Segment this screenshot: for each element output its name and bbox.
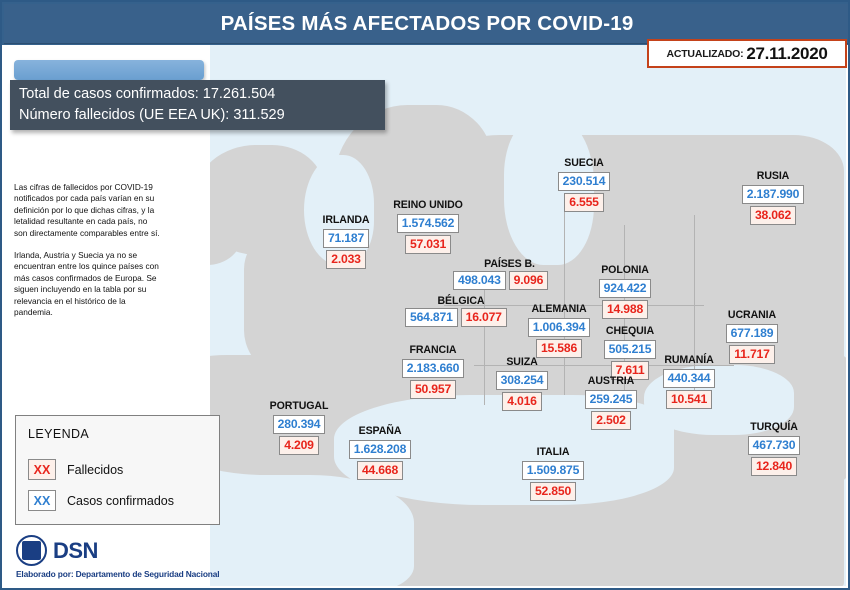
country-label-rusia: RUSIA2.187.99038.062: [730, 170, 816, 225]
updated-date-label: ACTUALIZADO:: [666, 48, 743, 60]
cases-value-alemania: 1.006.394: [528, 318, 590, 337]
cases-value-rumania: 440.344: [663, 369, 716, 388]
country-label-italia: ITALIA1.509.87552.850: [512, 446, 594, 501]
cases-value-ucrania: 677.189: [726, 324, 779, 343]
summary-box: Total de casos confirmados: 17.261.504 N…: [10, 80, 385, 130]
country-values-belgica: 564.87116.077: [405, 308, 517, 327]
country-label-portugal: PORTUGAL280.3944.209: [263, 400, 335, 455]
country-name-rumania: RUMANÍA: [653, 354, 725, 367]
cases-value-paises-b: 498.043: [453, 271, 506, 290]
updated-date-value: 27.11.2020: [746, 44, 827, 64]
decorative-blue-bar: [14, 60, 204, 80]
country-name-irlanda: IRLANDA: [316, 214, 376, 227]
deaths-value-paises-b: 9.096: [509, 271, 549, 290]
cases-value-espana: 1.628.208: [349, 440, 411, 459]
country-label-alemania: ALEMANIA1.006.39415.586: [518, 303, 600, 358]
deaths-value-espana: 44.668: [357, 461, 403, 480]
dsn-logo-text: DSN: [53, 540, 98, 562]
country-label-turquia: TURQUÍA467.73012.840: [736, 421, 812, 476]
deaths-value-rumania: 10.541: [666, 390, 712, 409]
deaths-value-portugal: 4.209: [279, 436, 319, 455]
cases-value-chequia: 505.215: [604, 340, 657, 359]
cases-value-austria: 259.245: [585, 390, 638, 409]
country-values-suiza: 308.2544.016: [486, 369, 558, 411]
country-name-italia: ITALIA: [512, 446, 594, 459]
country-name-francia: FRANCIA: [392, 344, 474, 357]
coat-of-arms-icon: [16, 535, 47, 566]
footer-block: DSN Elaborado por: Departamento de Segur…: [16, 535, 211, 579]
cases-value-italia: 1.509.875: [522, 461, 584, 480]
legend-row-deaths: XX Fallecidos: [28, 459, 123, 480]
country-name-suecia: SUECIA: [548, 157, 620, 170]
country-name-belgica: BÉLGICA: [405, 295, 517, 308]
legend-box: LEYENDA XX Fallecidos XX Casos confirmad…: [15, 415, 220, 525]
country-name-reino-unido: REINO UNIDO: [385, 199, 471, 212]
country-name-polonia: POLONIA: [587, 264, 663, 277]
country-name-rusia: RUSIA: [730, 170, 816, 183]
footer-caption: Elaborado por: Departamento de Seguridad…: [16, 569, 211, 579]
legend-label-deaths: Fallecidos: [67, 463, 123, 477]
country-label-francia: FRANCIA2.183.66050.957: [392, 344, 474, 399]
legend-label-cases: Casos confirmados: [67, 494, 174, 508]
country-name-turquia: TURQUÍA: [736, 421, 812, 434]
country-values-irlanda: 71.1872.033: [316, 227, 376, 269]
country-name-paises-b: PAÍSES B.: [453, 258, 566, 271]
country-values-espana: 1.628.20844.668: [339, 438, 421, 480]
country-label-suecia: SUECIA230.5146.555: [548, 157, 620, 212]
cases-value-turquia: 467.730: [748, 436, 801, 455]
deaths-value-reino-unido: 57.031: [405, 235, 451, 254]
deaths-value-irlanda: 2.033: [326, 250, 366, 269]
country-values-suecia: 230.5146.555: [548, 170, 620, 212]
country-values-paises-b: 498.0439.096: [453, 271, 566, 290]
country-label-ucrania: UCRANIA677.18911.717: [716, 309, 788, 364]
deaths-value-suiza: 4.016: [502, 392, 542, 411]
country-label-irlanda: IRLANDA71.1872.033: [316, 214, 376, 269]
summary-total-cases: Total de casos confirmados: 17.261.504: [19, 84, 385, 105]
cases-value-irlanda: 71.187: [323, 229, 369, 248]
country-label-rumania: RUMANÍA440.34410.541: [653, 354, 725, 409]
summary-total-deaths: Número fallecidos (UE EEA UK): 311.529: [19, 105, 385, 126]
country-name-austria: AUSTRIA: [575, 375, 647, 388]
country-label-espana: ESPAÑA1.628.20844.668: [339, 425, 421, 480]
country-label-reino-unido: REINO UNIDO1.574.56257.031: [385, 199, 471, 254]
cases-value-portugal: 280.394: [273, 415, 326, 434]
cases-value-suiza: 308.254: [496, 371, 549, 390]
deaths-value-italia: 52.850: [530, 482, 576, 501]
deaths-value-francia: 50.957: [410, 380, 456, 399]
legend-row-cases: XX Casos confirmados: [28, 490, 174, 511]
country-values-reino-unido: 1.574.56257.031: [385, 212, 471, 254]
country-values-portugal: 280.3944.209: [263, 413, 335, 455]
note-paragraph-1: Las cifras de fallecidos por COVID-19 no…: [14, 182, 162, 239]
country-name-chequia: CHEQUIA: [594, 325, 666, 338]
legend-chip-cases: XX: [28, 490, 56, 511]
country-label-belgica: BÉLGICA564.87116.077: [405, 295, 517, 327]
legend-title: LEYENDA: [28, 427, 89, 441]
country-label-suiza: SUIZA308.2544.016: [486, 356, 558, 411]
deaths-value-ucrania: 11.717: [729, 345, 774, 364]
country-name-alemania: ALEMANIA: [518, 303, 600, 316]
deaths-value-polonia: 14.988: [602, 300, 648, 319]
country-label-paises-b: PAÍSES B.498.0439.096: [453, 258, 566, 290]
country-values-rusia: 2.187.99038.062: [730, 183, 816, 225]
country-name-portugal: PORTUGAL: [263, 400, 335, 413]
logo-row: DSN: [16, 535, 211, 566]
deaths-value-suecia: 6.555: [564, 193, 604, 212]
country-values-italia: 1.509.87552.850: [512, 459, 594, 501]
country-values-turquia: 467.73012.840: [736, 434, 812, 476]
country-name-suiza: SUIZA: [486, 356, 558, 369]
country-values-francia: 2.183.66050.957: [392, 357, 474, 399]
cases-value-reino-unido: 1.574.562: [397, 214, 459, 233]
cases-value-polonia: 924.422: [599, 279, 652, 298]
infographic-root: PAÍSES MÁS AFECTADOS POR COVID-19 ACTUAL…: [0, 0, 850, 590]
country-name-ucrania: UCRANIA: [716, 309, 788, 322]
updated-date-box: ACTUALIZADO: 27.11.2020: [647, 39, 847, 68]
country-values-austria: 259.2452.502: [575, 388, 647, 430]
deaths-value-rusia: 38.062: [750, 206, 796, 225]
country-values-ucrania: 677.18911.717: [716, 322, 788, 364]
cases-value-belgica: 564.871: [405, 308, 458, 327]
cases-value-rusia: 2.187.990: [742, 185, 804, 204]
legend-chip-deaths: XX: [28, 459, 56, 480]
country-label-austria: AUSTRIA259.2452.502: [575, 375, 647, 430]
cases-value-suecia: 230.514: [558, 172, 611, 191]
country-values-rumania: 440.34410.541: [653, 367, 725, 409]
note-paragraph-2: Irlanda, Austria y Suecia ya no se encue…: [14, 250, 162, 318]
notes-block: Las cifras de fallecidos por COVID-19 no…: [14, 182, 162, 329]
deaths-value-austria: 2.502: [591, 411, 631, 430]
deaths-value-belgica: 16.077: [461, 308, 507, 327]
cases-value-francia: 2.183.660: [402, 359, 464, 378]
deaths-value-turquia: 12.840: [751, 457, 797, 476]
country-name-espana: ESPAÑA: [339, 425, 421, 438]
country-values-alemania: 1.006.39415.586: [518, 316, 600, 358]
